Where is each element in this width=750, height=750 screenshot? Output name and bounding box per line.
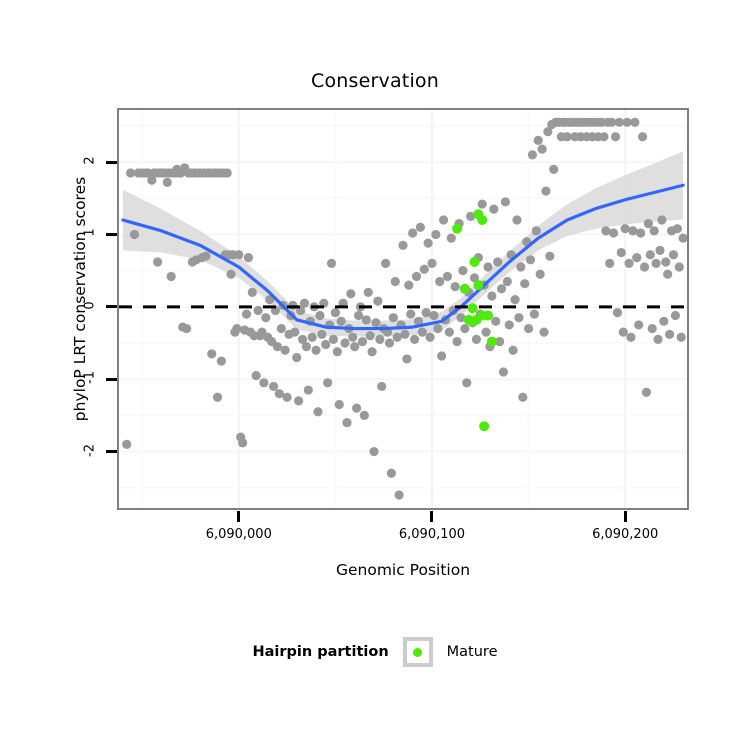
y-tick-mark — [106, 233, 117, 236]
data-point-other — [323, 378, 332, 387]
y-tick-label: 2 — [83, 147, 98, 175]
data-point-other — [437, 351, 446, 360]
data-point-other — [483, 262, 492, 271]
data-point-other — [400, 330, 409, 339]
data-point-other — [443, 272, 452, 281]
data-point-other — [536, 270, 545, 279]
x-axis-title: Genomic Position — [117, 561, 689, 579]
data-point-other — [646, 250, 655, 259]
data-point-other — [669, 250, 678, 259]
data-point-other — [217, 357, 226, 366]
data-point-other — [248, 288, 257, 297]
data-point-other — [254, 306, 263, 315]
data-point-other — [340, 338, 349, 347]
data-point-other — [621, 224, 630, 233]
data-point-other — [661, 257, 670, 266]
data-point-other — [489, 205, 498, 214]
data-point-other — [333, 347, 342, 356]
data-point-other — [425, 333, 434, 342]
y-tick-mark — [106, 450, 117, 453]
y-tick-label: 0 — [83, 291, 98, 319]
data-point-other — [408, 228, 417, 237]
data-point-other — [429, 311, 438, 320]
data-point-other — [416, 223, 425, 232]
data-point-other — [510, 295, 519, 304]
data-point-other — [398, 241, 407, 250]
data-point-other — [435, 277, 444, 286]
data-point-other — [445, 328, 454, 337]
data-point-other — [626, 333, 635, 342]
data-point-other — [451, 282, 460, 291]
data-point-other — [447, 233, 456, 242]
data-point-other — [628, 226, 637, 235]
data-point-other — [516, 262, 525, 271]
data-point-other — [677, 333, 686, 342]
data-point-other — [130, 230, 139, 239]
data-point-other — [514, 313, 523, 322]
plot-canvas — [119, 110, 687, 508]
data-point-other — [348, 333, 357, 342]
data-point-other — [315, 311, 324, 320]
legend-key-mature[interactable] — [403, 637, 433, 667]
y-tick-label: -2 — [83, 436, 98, 464]
data-point-other — [651, 259, 660, 268]
data-point-other — [512, 215, 521, 224]
data-point-other — [410, 335, 419, 344]
data-point-other — [655, 246, 664, 255]
data-point-other — [609, 228, 618, 237]
data-point-mature — [471, 315, 481, 325]
data-point-other — [352, 404, 361, 413]
data-point-other — [269, 382, 278, 391]
data-point-other — [640, 262, 649, 271]
data-point-other — [252, 371, 261, 380]
legend-dot-icon — [413, 648, 422, 657]
data-point-other — [226, 270, 235, 279]
data-point-other — [404, 281, 413, 290]
data-point-other — [520, 279, 529, 288]
data-point-other — [371, 318, 380, 327]
data-point-other — [335, 400, 344, 409]
data-point-mature — [483, 311, 493, 321]
data-point-other — [329, 335, 338, 344]
data-point-other — [462, 378, 471, 387]
data-point-other — [530, 309, 539, 318]
data-point-other — [366, 331, 375, 340]
data-point-other — [420, 265, 429, 274]
data-point-other — [671, 311, 680, 320]
data-point-other — [642, 388, 651, 397]
data-point-other — [385, 338, 394, 347]
data-point-other — [481, 328, 490, 337]
data-point-other — [636, 228, 645, 237]
data-point-mature — [487, 337, 497, 347]
data-point-other — [611, 132, 620, 141]
data-point-other — [665, 330, 674, 339]
data-point-other — [617, 248, 626, 257]
data-point-other — [501, 197, 510, 206]
data-point-other — [242, 309, 251, 318]
data-point-other — [331, 308, 340, 317]
data-point-other — [534, 136, 543, 145]
data-point-other — [599, 132, 608, 141]
data-point-other — [624, 259, 633, 268]
data-point-other — [478, 199, 487, 208]
data-point-other — [663, 270, 672, 279]
data-point-other — [549, 165, 558, 174]
plot-panel — [117, 108, 689, 510]
data-point-other — [302, 342, 311, 351]
data-point-other — [648, 324, 657, 333]
data-point-other — [424, 239, 433, 248]
data-point-other — [360, 411, 369, 420]
x-tick-label: 6,090,100 — [372, 527, 492, 542]
data-point-other — [373, 296, 382, 305]
data-point-other — [632, 253, 641, 262]
data-point-other — [311, 346, 320, 355]
data-point-other — [650, 226, 659, 235]
data-point-other — [294, 396, 303, 405]
data-point-other — [261, 313, 270, 322]
data-point-other — [377, 382, 386, 391]
data-point-other — [659, 317, 668, 326]
data-point-other — [619, 328, 628, 337]
data-point-other — [375, 335, 384, 344]
data-point-other — [387, 469, 396, 478]
data-point-other — [518, 393, 527, 402]
conservation-plot: Conservation phyloP LRT conservation sco… — [0, 0, 750, 750]
data-point-other — [207, 349, 216, 358]
data-point-mature — [452, 224, 462, 234]
data-point-other — [389, 313, 398, 322]
data-point-other — [460, 324, 469, 333]
data-point-other — [391, 277, 400, 286]
data-point-other — [499, 367, 508, 376]
data-point-other — [491, 317, 500, 326]
y-tick-label: -1 — [83, 364, 98, 392]
data-point-other — [657, 215, 666, 224]
data-point-other — [223, 168, 232, 177]
data-point-other — [505, 320, 514, 329]
data-point-other — [458, 266, 467, 275]
data-point-other — [337, 317, 346, 326]
data-point-mature — [468, 303, 478, 313]
data-point-other — [439, 215, 448, 224]
data-point-other — [308, 333, 317, 342]
data-point-other — [290, 328, 299, 337]
data-point-mature — [473, 280, 483, 290]
data-point-other — [358, 337, 367, 346]
data-point-other — [300, 299, 309, 308]
legend-label-mature: Mature — [447, 644, 498, 660]
data-point-other — [532, 226, 541, 235]
data-point-other — [526, 255, 535, 264]
data-point-other — [528, 150, 537, 159]
data-point-other — [327, 259, 336, 268]
data-point-other — [354, 311, 363, 320]
y-tick-mark — [106, 161, 117, 164]
legend-title: Hairpin partition — [252, 644, 388, 660]
y-tick-mark — [106, 378, 117, 381]
data-point-other — [545, 252, 554, 261]
data-point-other — [232, 324, 241, 333]
data-point-other — [412, 272, 421, 281]
data-point-other — [433, 324, 442, 333]
data-point-other — [367, 347, 376, 356]
data-point-other — [630, 118, 639, 127]
data-point-other — [282, 393, 291, 402]
data-point-other — [524, 324, 533, 333]
data-point-other — [427, 259, 436, 268]
data-point-mature — [479, 421, 489, 431]
data-point-other — [364, 288, 373, 297]
data-point-other — [163, 178, 172, 187]
data-point-other — [395, 490, 404, 499]
data-point-other — [213, 393, 222, 402]
data-point-other — [304, 385, 313, 394]
data-point-other — [153, 257, 162, 266]
y-tick-label: 1 — [83, 219, 98, 247]
data-point-other — [238, 438, 247, 447]
y-tick-mark — [106, 305, 117, 308]
data-point-other — [402, 354, 411, 363]
data-point-other — [201, 252, 210, 261]
data-point-other — [342, 418, 351, 427]
data-point-other — [362, 315, 371, 324]
data-point-other — [182, 324, 191, 333]
data-point-other — [613, 308, 622, 317]
data-point-other — [321, 340, 330, 349]
data-point-other — [675, 262, 684, 271]
data-point-other — [369, 447, 378, 456]
data-point-other — [493, 257, 502, 266]
data-point-other — [487, 291, 496, 300]
data-point-other — [638, 132, 647, 141]
x-tick-mark — [237, 511, 240, 522]
data-point-other — [538, 144, 547, 153]
data-point-other — [292, 353, 301, 362]
data-point-other — [122, 440, 131, 449]
data-point-mature — [469, 257, 479, 267]
data-point-other — [539, 328, 548, 337]
data-point-other — [653, 335, 662, 344]
data-point-mature — [460, 284, 470, 294]
data-point-other — [418, 328, 427, 337]
data-point-mature — [477, 215, 487, 225]
data-point-other — [452, 337, 461, 346]
x-tick-mark — [430, 511, 433, 522]
data-point-other — [634, 320, 643, 329]
data-point-other — [673, 224, 682, 233]
x-tick-label: 6,090,000 — [179, 527, 299, 542]
data-point-other — [259, 378, 268, 387]
data-point-other — [317, 330, 326, 339]
data-point-other — [406, 309, 415, 318]
legend: Hairpin partition Mature — [0, 637, 750, 667]
data-point-other — [313, 407, 322, 416]
page-title: Conservation — [0, 70, 750, 92]
data-point-other — [167, 272, 176, 281]
data-point-other — [277, 324, 286, 333]
data-point-other — [497, 284, 506, 293]
data-point-other — [244, 253, 253, 262]
data-point-other — [644, 219, 653, 228]
data-point-other — [472, 335, 481, 344]
data-point-other — [601, 226, 610, 235]
x-tick-mark — [624, 511, 627, 522]
data-point-other — [509, 346, 518, 355]
data-point-other — [541, 186, 550, 195]
data-point-other — [346, 289, 355, 298]
data-point-other — [605, 259, 614, 268]
data-point-other — [350, 342, 359, 351]
data-point-other — [431, 230, 440, 239]
data-point-other — [381, 259, 390, 268]
data-point-other — [281, 346, 290, 355]
data-point-other — [503, 277, 512, 286]
x-tick-label: 6,090,200 — [565, 527, 685, 542]
data-point-other — [234, 250, 243, 259]
